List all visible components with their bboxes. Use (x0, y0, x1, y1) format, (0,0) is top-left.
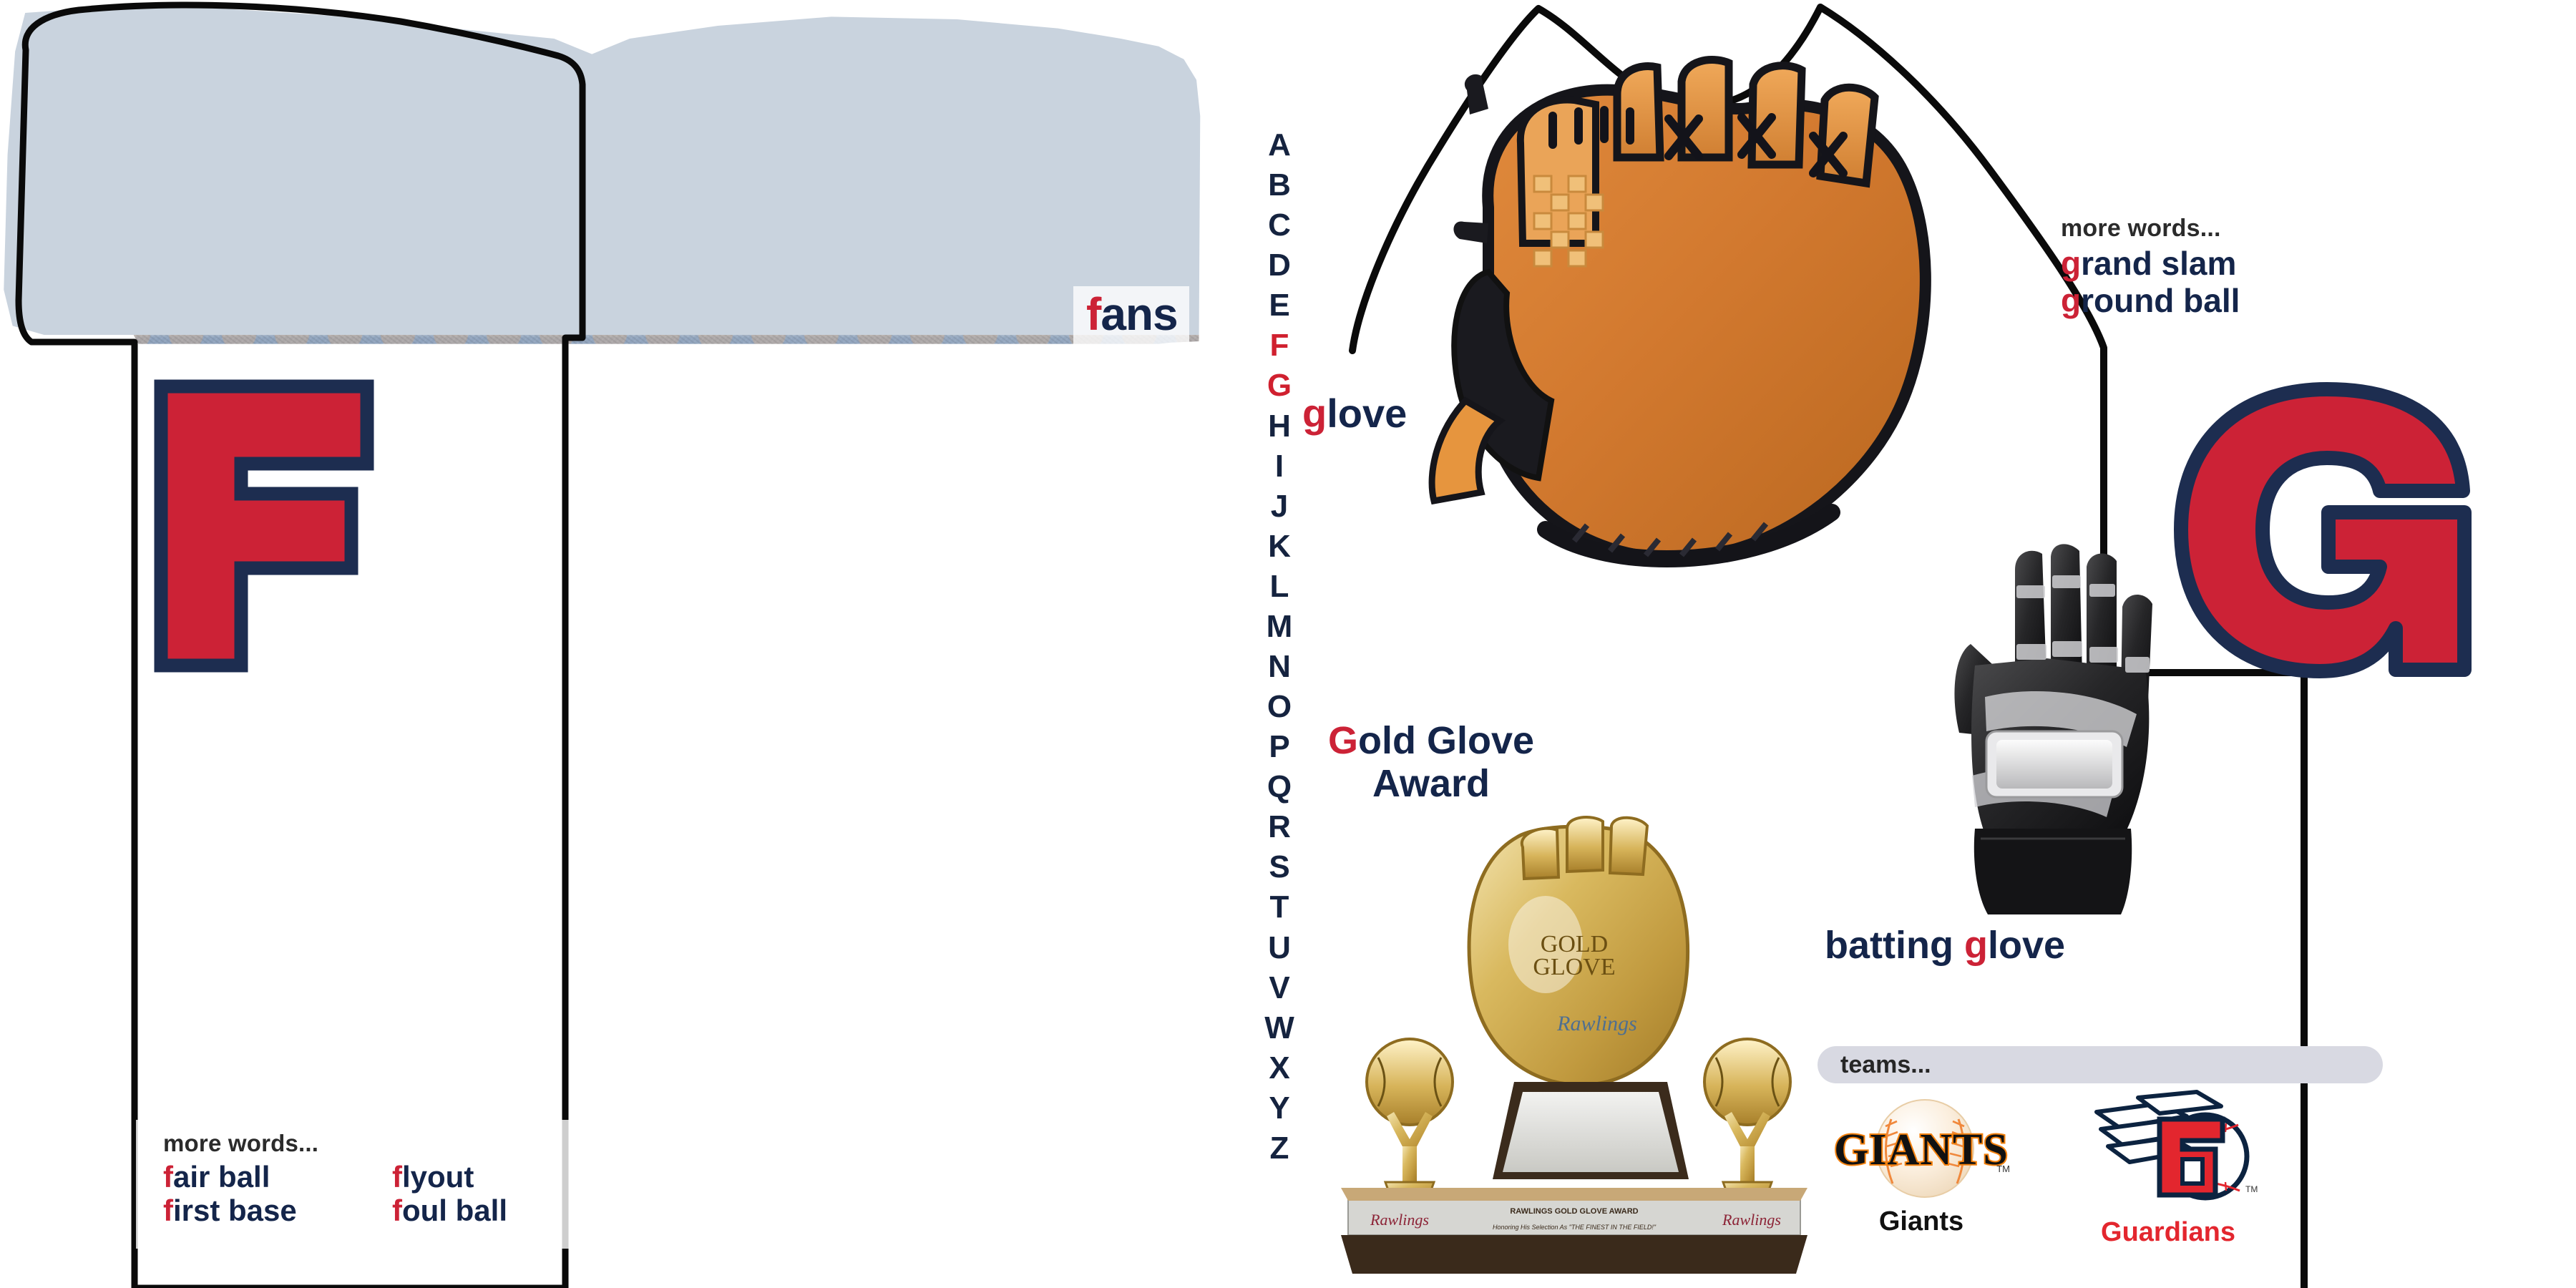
right-more-words-panel: more words... grand slam ground ball (2061, 215, 2240, 319)
word-rest: round ball (2081, 282, 2240, 319)
label-gold-highlight: G (1328, 719, 1358, 762)
alphabet-letter-m[interactable]: M (1267, 612, 1293, 643)
alphabet-letter-a[interactable]: A (1268, 130, 1291, 161)
word-highlight: f (163, 1194, 173, 1227)
guardians-logo: TM (2075, 1088, 2261, 1213)
label-gold-rest: old Glove (1358, 719, 1534, 762)
alphabet-letter-b[interactable]: B (1268, 170, 1291, 201)
alphabet-letter-u[interactable]: U (1268, 933, 1291, 964)
foreground-player (827, 545, 1201, 1288)
player-blur-overlay (827, 545, 1201, 1288)
player-arm (789, 872, 973, 1124)
left-more-words-col-1: fair ball first base (163, 1160, 392, 1227)
alphabet-letter-n[interactable]: N (1268, 652, 1291, 683)
trophy-glove-mark-2: GLOVE (1533, 954, 1615, 980)
word-rest: irst base (173, 1194, 297, 1227)
alphabet-letter-i[interactable]: I (1275, 452, 1284, 482)
caption-fans-rest: ans (1101, 288, 1177, 340)
alphabet-letter-t[interactable]: T (1270, 892, 1289, 923)
baseball-glove-image (1381, 29, 1953, 623)
word-rest: air ball (173, 1160, 270, 1194)
word-rest: rand slam (2081, 245, 2236, 282)
alphabet-index-strip: ABCDEFGHIJKLMNOPQRSTUVWXYZ (1261, 130, 1298, 1164)
alphabet-letter-p[interactable]: P (1269, 732, 1289, 763)
alphabet-letter-v[interactable]: V (1269, 973, 1289, 1004)
alphabet-letter-x[interactable]: X (1269, 1053, 1289, 1084)
label-glove-rest: love (1327, 391, 1407, 436)
right-page-g: glove more words... grand slam ground ba… (1302, 0, 2576, 1288)
team-name-giants: Giants (1803, 1206, 2039, 1237)
alphabet-letter-f[interactable]: F (1270, 331, 1289, 361)
left-more-words-panel: more words... fair ball first base flyou… (136, 1120, 859, 1249)
alphabet-letter-j[interactable]: J (1271, 492, 1288, 522)
batting-glove-image (1946, 544, 2190, 930)
alphabet-letter-o[interactable]: O (1267, 692, 1292, 723)
alphabet-letter-c[interactable]: C (1268, 210, 1291, 241)
giants-tm-mark: TM (1996, 1163, 2010, 1174)
trophy-brand-right: Rawlings (1722, 1211, 1781, 1229)
trophy-brand-left: Rawlings (1370, 1211, 1429, 1229)
trophy-plate-line-2: Honoring His Selection As "THE FINEST IN… (1493, 1224, 1657, 1231)
teams-heading-bar: teams... (1818, 1046, 2383, 1083)
alphabet-letter-s[interactable]: S (1269, 852, 1289, 883)
right-more-words-heading: more words... (2061, 215, 2240, 243)
label-gold-glove-award: Gold Glove Award (1302, 719, 1560, 806)
alphabet-letter-k[interactable]: K (1268, 532, 1291, 562)
left-more-words-col-2: flyout foul ball (392, 1160, 621, 1227)
left-more-words-item: fair ball (163, 1160, 392, 1194)
team-entry-guardians: TM Guardians (2061, 1088, 2275, 1248)
label-batting-prefix: batting (1825, 924, 1964, 967)
left-more-words-item: flyout (392, 1160, 621, 1194)
word-highlight: f (392, 1194, 402, 1227)
label-batting-glove: batting glove (1825, 923, 2065, 967)
player-helmet (935, 545, 1111, 708)
left-more-words-item: foul ball (392, 1194, 621, 1227)
giants-logo: Giants TM (1814, 1095, 2029, 1202)
left-more-words-item: first base (163, 1194, 392, 1227)
big-letter-f (154, 379, 376, 673)
right-more-words-item: ground ball (2061, 283, 2240, 320)
word-highlight: g (2061, 245, 2081, 282)
word-rest: oul ball (402, 1194, 507, 1227)
word-highlight: g (2061, 282, 2081, 319)
alphabet-letter-g[interactable]: G (1267, 371, 1292, 401)
word-highlight: f (163, 1160, 173, 1194)
teams-heading-text: teams... (1840, 1051, 1931, 1079)
alphabet-letter-r[interactable]: R (1268, 812, 1291, 843)
label-batting-highlight: g (1964, 924, 1988, 967)
caption-fans: fans (1073, 286, 1189, 346)
label-glove-highlight: g (1302, 391, 1327, 436)
right-more-words-item: grand slam (2061, 245, 2240, 283)
gold-glove-trophy-image: GOLD GLOVE Rawlings (1331, 816, 1818, 1288)
alphabet-letter-z[interactable]: Z (1270, 1133, 1289, 1164)
big-letter-g (2168, 379, 2476, 680)
guardians-logo-svg: TM (2075, 1088, 2261, 1213)
word-highlight: f (392, 1160, 402, 1194)
label-glove: glove (1302, 390, 1407, 436)
left-more-words-grid: fair ball first base flyout foul ball (163, 1160, 859, 1227)
left-page-f: fans more words... fair ball first base … (0, 0, 1259, 1288)
caption-fans-highlight: f (1086, 288, 1101, 340)
alphabet-letter-d[interactable]: D (1268, 250, 1291, 281)
team-entry-giants: Giants TM Giants (1803, 1095, 2039, 1237)
alphabet-letter-q[interactable]: Q (1267, 772, 1292, 803)
word-rest: lyout (402, 1160, 474, 1194)
alphabet-letter-y[interactable]: Y (1269, 1093, 1289, 1124)
trophy-plate-line-1: RAWLINGS GOLD GLOVE AWARD (1510, 1207, 1638, 1216)
label-gold-glove-line1: Gold Glove (1302, 719, 1560, 762)
label-gold-glove-line2: Award (1302, 762, 1560, 805)
alphabet-book-spread: fans more words... fair ball first base … (0, 0, 2576, 1288)
alphabet-letter-w[interactable]: W (1264, 1013, 1294, 1044)
player-jersey (842, 671, 1200, 1288)
team-name-guardians: Guardians (2061, 1217, 2275, 1248)
label-batting-rest: love (1988, 924, 2065, 967)
alphabet-letter-h[interactable]: H (1268, 411, 1291, 442)
alphabet-letter-e[interactable]: E (1269, 291, 1289, 321)
guardians-tm-mark: TM (2245, 1184, 2258, 1194)
left-more-words-heading: more words... (163, 1130, 859, 1157)
trophy-brand: Rawlings (1556, 1012, 1637, 1035)
alphabet-letter-l[interactable]: L (1270, 572, 1289, 602)
